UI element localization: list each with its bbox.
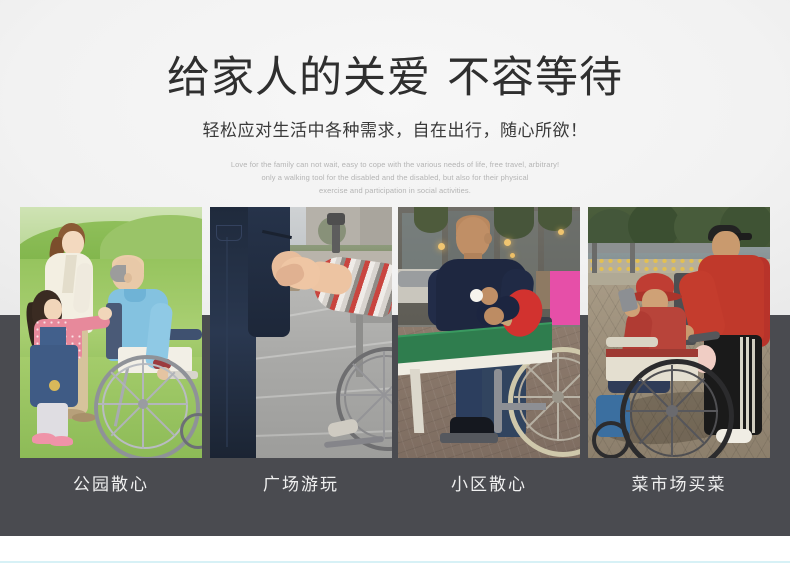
photo-family-in-park bbox=[20, 207, 202, 458]
gallery-card-market[interactable] bbox=[588, 207, 770, 458]
gallery-card-park[interactable] bbox=[20, 207, 202, 458]
photo-holding-hands-plaza bbox=[210, 207, 392, 458]
promo-banner: 给家人的关爱不容等待 轻松应对生活中各种需求，自在出行，随心所欲！ Love f… bbox=[0, 0, 790, 567]
gallery-caption-neighborhood: 小区散心 bbox=[398, 470, 580, 495]
gallery-card-plaza[interactable] bbox=[210, 207, 392, 458]
gallery-caption-plaza: 广场游玩 bbox=[210, 470, 392, 495]
gallery-card-table-tennis[interactable] bbox=[398, 207, 580, 458]
gallery-caption-market: 菜市场买菜 bbox=[588, 470, 770, 495]
photo-riverside-walk bbox=[588, 207, 770, 458]
gallery-caption-park: 公园散心 bbox=[20, 470, 202, 495]
photo-table-tennis bbox=[398, 207, 580, 458]
scene-gallery: 公园散心 广场游玩 小区散心 菜市场买菜 bbox=[0, 0, 790, 567]
bottom-accent-rule bbox=[0, 561, 790, 563]
